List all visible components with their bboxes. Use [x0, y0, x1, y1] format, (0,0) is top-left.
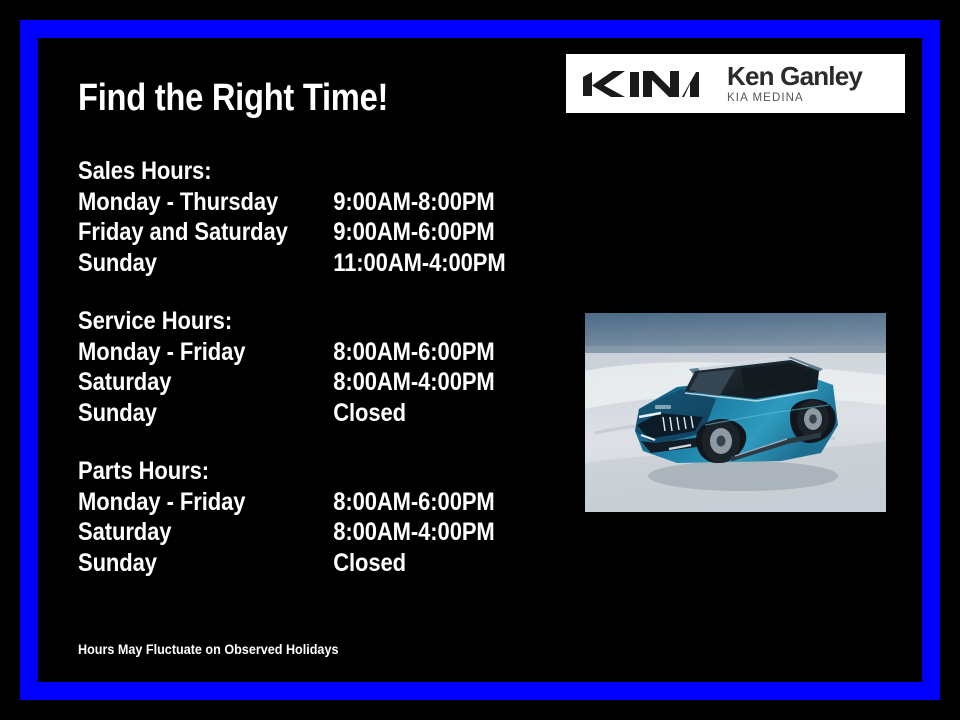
hours-sections: Sales Hours: Monday - Thursday 9:00AM-8:…: [78, 156, 548, 578]
dealer-subtitle: KIA MEDINA: [727, 91, 862, 105]
dealer-text-lockup: Ken Ganley KIA MEDINA: [727, 63, 862, 105]
hours-row-time: Closed: [333, 398, 406, 429]
hours-row-days: Sunday: [78, 248, 157, 279]
hours-row-days: Monday - Friday: [78, 487, 245, 518]
hours-row: Sunday Closed: [78, 548, 492, 579]
hours-row-time: 8:00AM-4:00PM: [333, 367, 494, 398]
dealer-name: Ken Ganley: [727, 63, 862, 90]
vehicle-photo: [585, 313, 886, 512]
section-heading-sales: Sales Hours:: [78, 156, 492, 187]
hours-row: Saturday 8:00AM-4:00PM: [78, 367, 492, 398]
hours-row-time: 8:00AM-6:00PM: [333, 487, 494, 518]
hours-row-time: Closed: [333, 548, 406, 579]
kia-logo-mark: [582, 69, 699, 99]
hours-row: Friday and Saturday 9:00AM-6:00PM: [78, 217, 492, 248]
hours-row: Monday - Friday 8:00AM-6:00PM: [78, 487, 492, 518]
dealer-logo-banner: Ken Ganley KIA MEDINA: [566, 54, 905, 113]
page-title: Find the Right Time!: [78, 76, 388, 120]
slide-root: Find the Right Time! Sales Hours: Monday…: [0, 0, 960, 720]
hours-row-time: 9:00AM-6:00PM: [333, 217, 494, 248]
hours-row-time: 9:00AM-8:00PM: [333, 187, 494, 218]
hours-block-service: Service Hours: Monday - Friday 8:00AM-6:…: [78, 306, 548, 428]
section-heading-service: Service Hours:: [78, 306, 492, 337]
hours-row-time: 8:00AM-4:00PM: [333, 517, 494, 548]
holiday-disclaimer: Hours May Fluctuate on Observed Holidays: [78, 640, 338, 658]
hours-row-days: Monday - Friday: [78, 337, 245, 368]
hours-row: Sunday 11:00AM-4:00PM: [78, 248, 492, 279]
section-heading-parts: Parts Hours:: [78, 456, 492, 487]
hours-row: Saturday 8:00AM-4:00PM: [78, 517, 492, 548]
hours-row: Monday - Friday 8:00AM-6:00PM: [78, 337, 492, 368]
slide-canvas: Find the Right Time! Sales Hours: Monday…: [0, 0, 960, 720]
hours-block-sales: Sales Hours: Monday - Thursday 9:00AM-8:…: [78, 156, 548, 278]
hours-row-days: Sunday: [78, 548, 157, 579]
hours-row: Monday - Thursday 9:00AM-8:00PM: [78, 187, 492, 218]
hours-row-days: Saturday: [78, 367, 171, 398]
hours-block-parts: Parts Hours: Monday - Friday 8:00AM-6:00…: [78, 456, 548, 578]
hours-row-time: 11:00AM-4:00PM: [333, 248, 505, 279]
hours-row-days: Friday and Saturday: [78, 217, 288, 248]
hours-row-days: Saturday: [78, 517, 171, 548]
hours-row: Sunday Closed: [78, 398, 492, 429]
hours-row-days: Sunday: [78, 398, 157, 429]
hours-row-days: Monday - Thursday: [78, 187, 278, 218]
hours-row-time: 8:00AM-6:00PM: [333, 337, 494, 368]
